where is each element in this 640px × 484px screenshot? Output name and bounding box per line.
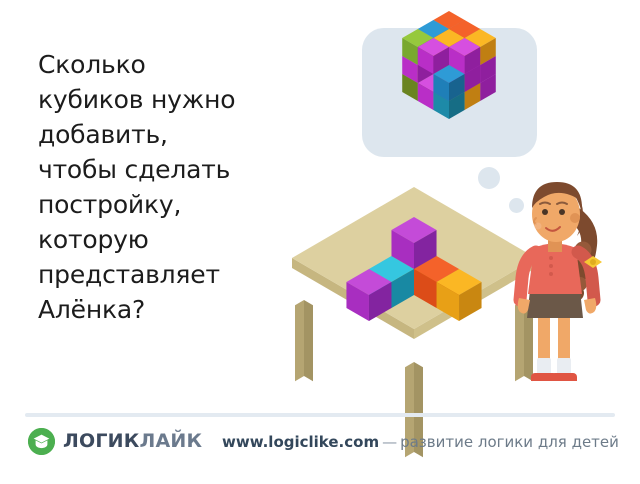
eye-left [542, 209, 548, 215]
shirt-button [549, 272, 553, 276]
ear [570, 213, 580, 223]
sock-right [557, 358, 571, 375]
skirt [527, 290, 583, 318]
logo-text-bold: ЛОГИК [63, 430, 139, 452]
logo-text-light: ЛАЙК [139, 430, 202, 452]
shoe-right [551, 373, 577, 381]
sock-left [537, 358, 551, 375]
footer: ЛОГИКЛАЙК www.logiclike.com—развитие лог… [0, 428, 640, 470]
graduation-cap-icon [28, 428, 55, 455]
girl-character [518, 182, 602, 381]
logo[interactable]: ЛОГИКЛАЙК [28, 428, 202, 455]
eye-right [559, 209, 565, 215]
slide-canvas: Сколько кубиков нужно добавить, чтобы сд… [0, 0, 640, 484]
footer-tagline: www.logiclike.com—развитие логики для де… [222, 430, 619, 454]
shirt-button [549, 256, 553, 260]
hand-right [584, 298, 596, 314]
tagline-text: развитие логики для детей [400, 433, 619, 451]
logo-text: ЛОГИКЛАЙК [63, 428, 202, 455]
tagline-dash: — [379, 433, 400, 451]
shirt-button [549, 264, 553, 268]
girl-character [0, 0, 640, 484]
bow-knot [590, 259, 596, 265]
cheek [535, 223, 542, 230]
site-url[interactable]: www.logiclike.com [222, 433, 379, 451]
footer-divider [25, 413, 615, 417]
